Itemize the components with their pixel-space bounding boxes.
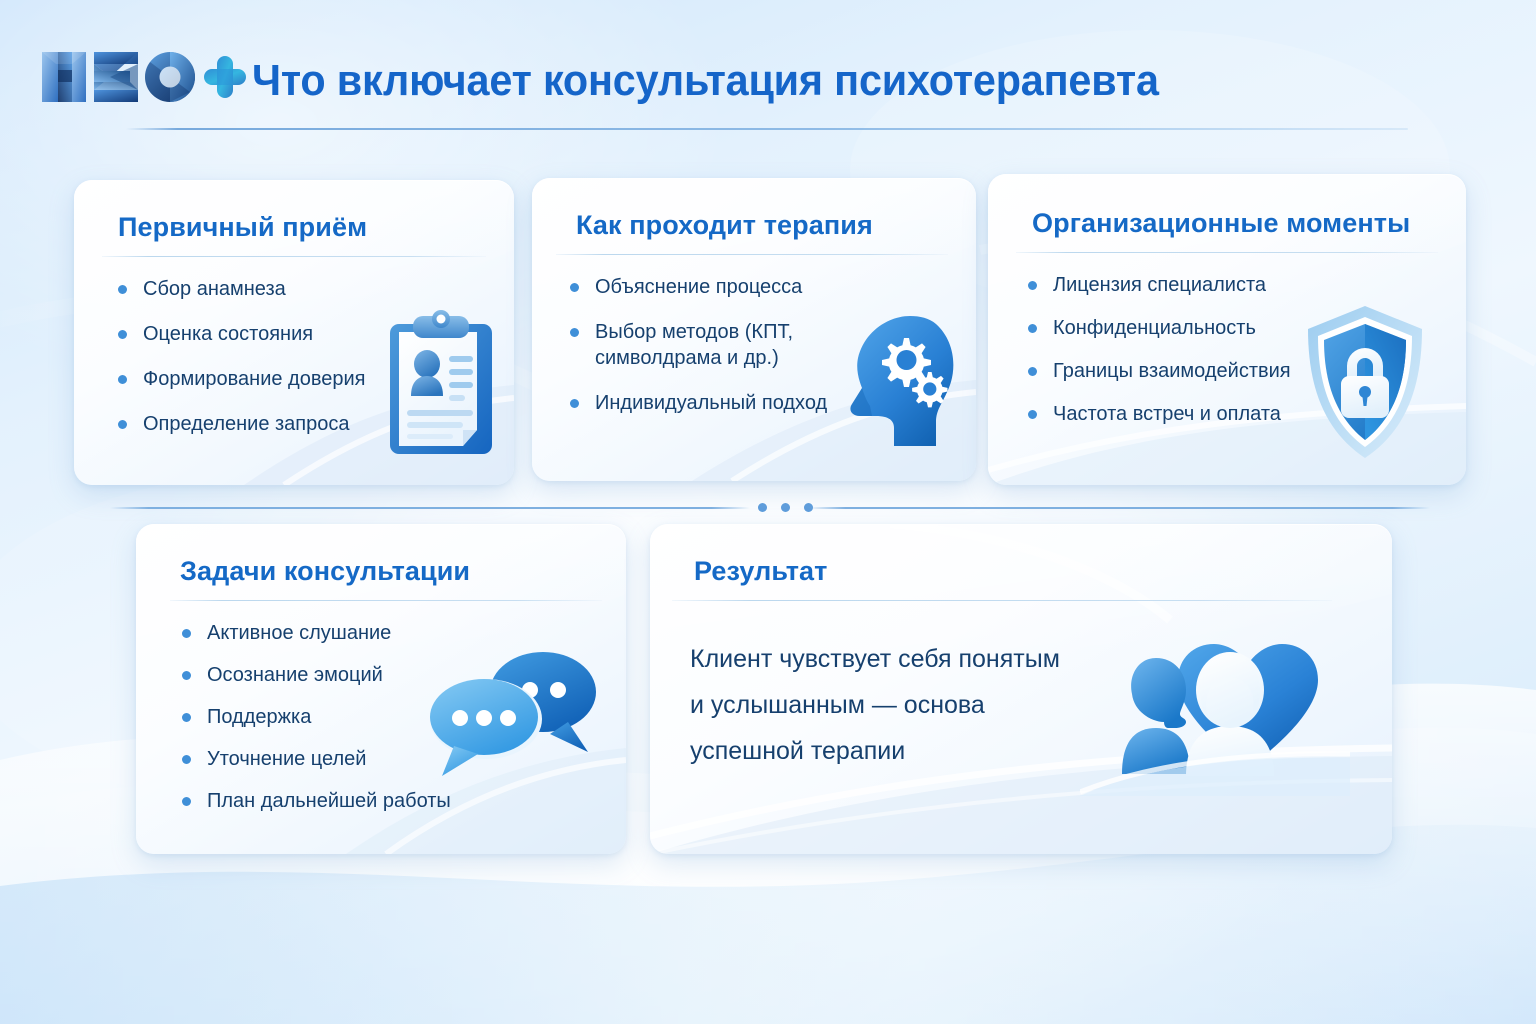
card-title-intake: Первичный приём xyxy=(118,212,367,243)
neo-plus-logo[interactable] xyxy=(38,44,248,110)
clipboard-person-icon xyxy=(385,306,497,458)
page-title: Что включает консультация психотерапевта xyxy=(252,56,1159,106)
list-item: Объяснение процесса xyxy=(568,274,858,300)
result-paragraph-line: Клиент чувствует себя понятым xyxy=(690,636,1120,682)
list-item: Лицензия специалиста xyxy=(1026,272,1356,298)
divider-line-right xyxy=(808,507,1430,509)
card-title-rule xyxy=(672,600,1332,601)
list-item: Сбор анамнеза xyxy=(116,276,446,302)
card-therapy[interactable]: Как проходит терапия Объяснение процесса… xyxy=(532,178,976,481)
bullet-list-therapy: Объяснение процесса Выбор методов (КПТ, … xyxy=(568,274,858,416)
head-gears-icon xyxy=(832,310,962,452)
card-title-goals: Задачи консультации xyxy=(180,556,470,587)
header-divider xyxy=(126,128,1408,130)
list-item: Индивидуальный подход xyxy=(568,390,858,416)
list-item: План дальнейшей работы xyxy=(180,788,510,814)
card-title-rule xyxy=(1016,252,1438,253)
card-goals[interactable]: Задачи консультации Активное слушание Ос… xyxy=(136,524,626,854)
card-title-org: Организационные моменты xyxy=(1032,208,1410,239)
result-paragraph: Клиент чувствует себя понятым и услышанн… xyxy=(690,636,1120,774)
card-title-therapy: Как проходит терапия xyxy=(576,210,873,241)
shield-lock-icon xyxy=(1300,302,1430,462)
card-title-rule xyxy=(556,254,948,255)
speech-bubbles-icon xyxy=(418,634,608,784)
divider-line-left xyxy=(110,507,750,509)
divider-dot xyxy=(758,503,767,512)
result-paragraph-line: и услышанным — основа xyxy=(690,682,1120,728)
page-header: Что включает консультация психотерапевта xyxy=(0,0,1536,150)
card-intake[interactable]: Первичный приём Сбор анамнеза Оценка сос… xyxy=(74,180,514,485)
card-title-result: Результат xyxy=(694,556,828,587)
card-title-rule xyxy=(170,600,602,601)
card-org[interactable]: Организационные моменты Лицензия специал… xyxy=(988,174,1466,485)
divider-dot xyxy=(781,503,790,512)
people-heart-icon xyxy=(1080,616,1350,796)
card-result[interactable]: Результат Клиент чувствует себя понятым … xyxy=(650,524,1392,854)
list-item: Выбор методов (КПТ, символдрама и др.) xyxy=(568,319,858,371)
card-title-rule xyxy=(102,256,486,257)
row-divider xyxy=(0,496,1536,520)
result-paragraph-line: успешной терапии xyxy=(690,728,1120,774)
